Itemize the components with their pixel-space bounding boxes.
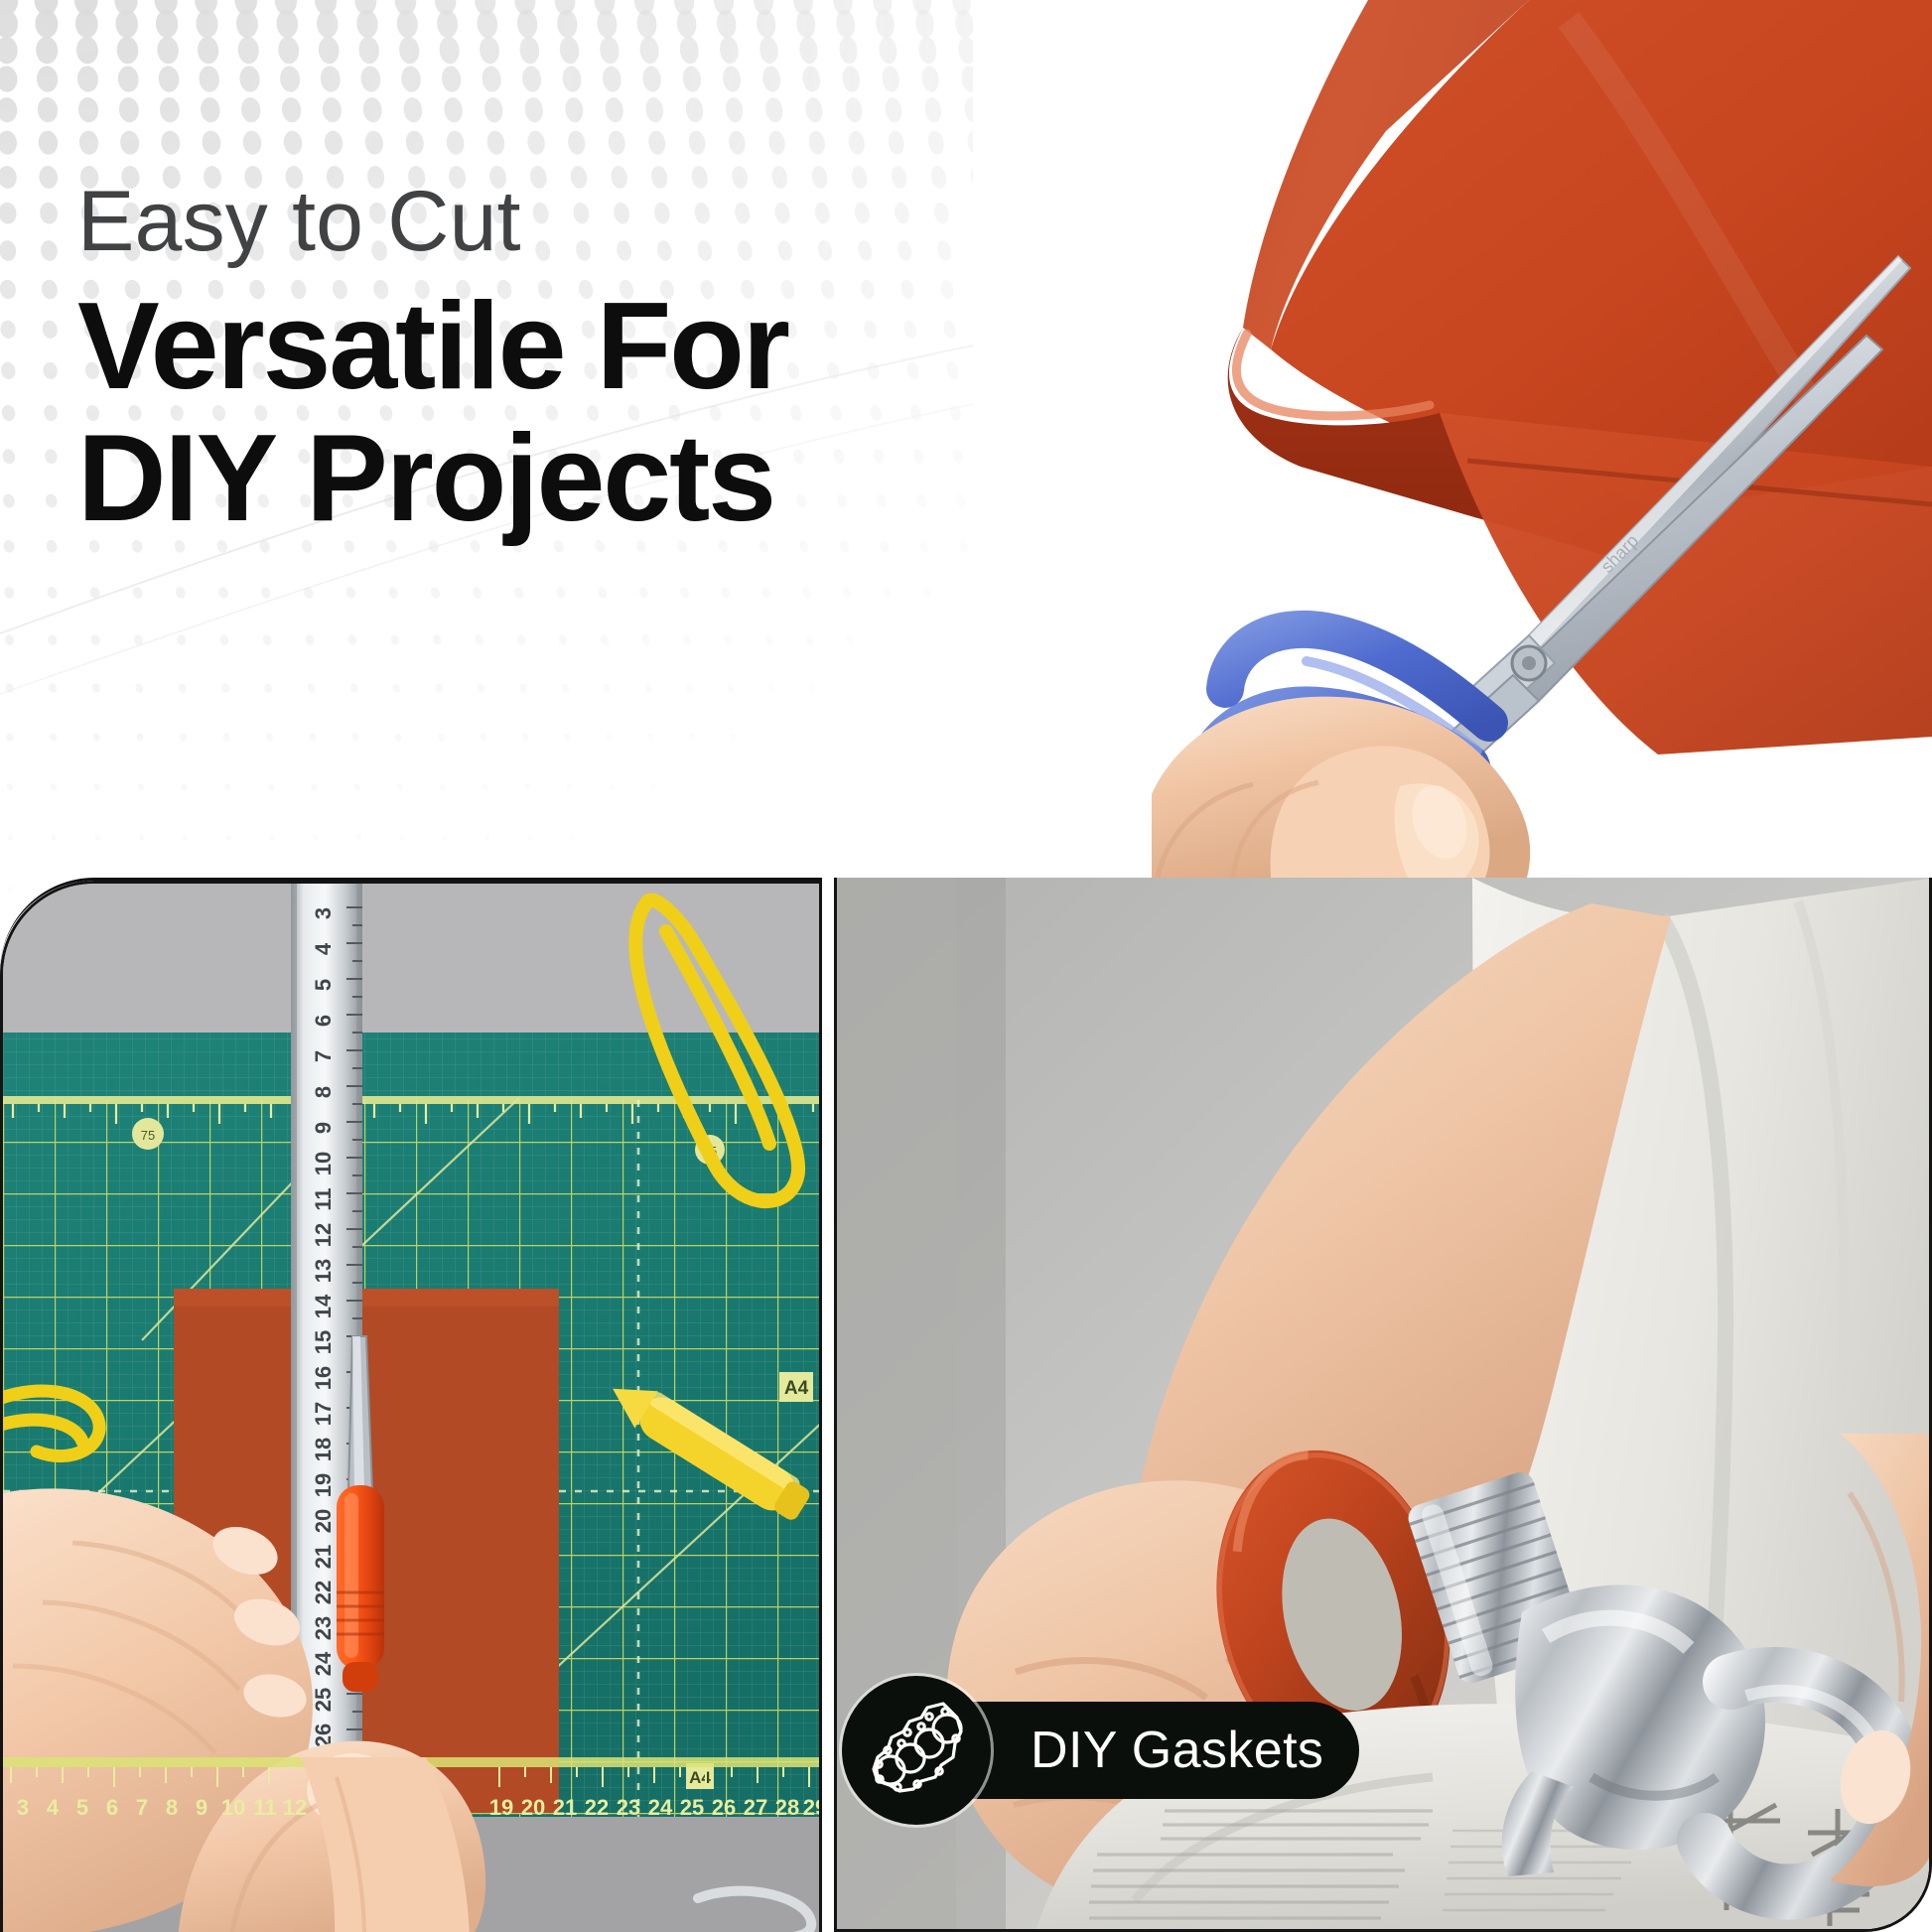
svg-text:12: 12 [311,1223,336,1247]
svg-text:3: 3 [17,1795,29,1820]
panel-cutting-mat-frame: 75 45 A4 A5 A4 [0,881,822,1932]
svg-text:14: 14 [311,1294,336,1318]
brand-logo-badge[interactable]: DIY Gaskets [842,1676,991,1825]
svg-text:12: 12 [283,1795,307,1820]
svg-text:4: 4 [311,942,336,955]
svg-text:25: 25 [680,1795,704,1820]
svg-text:10: 10 [221,1795,245,1820]
svg-text:9: 9 [196,1795,207,1820]
svg-text:22: 22 [311,1581,336,1604]
svg-text:7: 7 [136,1795,148,1820]
headline-block: Easy to Cut Versatile For DIY Projects [77,177,971,545]
headline-text: Versatile For DIY Projects [77,281,971,544]
brand-logo-circle [842,1676,991,1825]
svg-text:23: 23 [617,1795,640,1820]
svg-text:75: 75 [141,1128,155,1143]
svg-text:11: 11 [253,1795,276,1820]
svg-text:A4: A4 [784,1378,809,1399]
svg-text:7: 7 [311,1050,336,1062]
svg-text:28: 28 [775,1795,799,1820]
poster-canvas: Easy to Cut Versatile For DIY Projects [0,0,1932,1932]
svg-text:24: 24 [311,1651,336,1676]
headline-line-1: Versatile For [77,278,788,415]
hero-scissors-photo: sharp [973,0,1932,878]
mat-size-label-a4: A4 [779,1372,813,1402]
svg-text:20: 20 [311,1509,336,1533]
svg-text:15: 15 [311,1330,336,1354]
headline-line-2: DIY Projects [77,413,971,545]
svg-text:16: 16 [311,1366,336,1390]
panel-cutting-mat: 75 45 A4 A5 A4 [0,878,822,1932]
svg-text:10: 10 [311,1152,336,1175]
svg-text:19: 19 [311,1473,336,1497]
svg-text:23: 23 [311,1616,336,1640]
svg-text:8: 8 [311,1086,336,1098]
svg-text:22: 22 [585,1795,609,1820]
svg-text:8: 8 [166,1795,178,1820]
svg-text:6: 6 [311,1015,336,1027]
svg-text:26: 26 [712,1795,736,1820]
svg-text:6: 6 [106,1795,118,1820]
svg-text:A4: A4 [689,1768,711,1787]
svg-text:25: 25 [311,1688,336,1712]
svg-text:11: 11 [311,1187,336,1210]
svg-text:4: 4 [47,1795,60,1820]
svg-text:5: 5 [311,979,336,991]
svg-text:27: 27 [744,1795,767,1820]
head-gasket-icon [858,1692,975,1809]
svg-text:21: 21 [553,1795,577,1820]
svg-text:20: 20 [521,1795,545,1820]
svg-text:13: 13 [311,1259,336,1283]
svg-text:24: 24 [648,1795,673,1820]
svg-text:21: 21 [311,1545,336,1569]
svg-text:17: 17 [311,1402,336,1426]
svg-text:9: 9 [311,1122,336,1134]
svg-text:5: 5 [76,1795,88,1820]
svg-text:3: 3 [311,907,336,919]
eyebrow-text: Easy to Cut [77,177,971,267]
svg-text:19: 19 [489,1795,513,1820]
brand-name-text: DIY Gaskets [1031,1725,1323,1776]
svg-text:29: 29 [803,1795,822,1820]
svg-text:18: 18 [311,1438,336,1461]
